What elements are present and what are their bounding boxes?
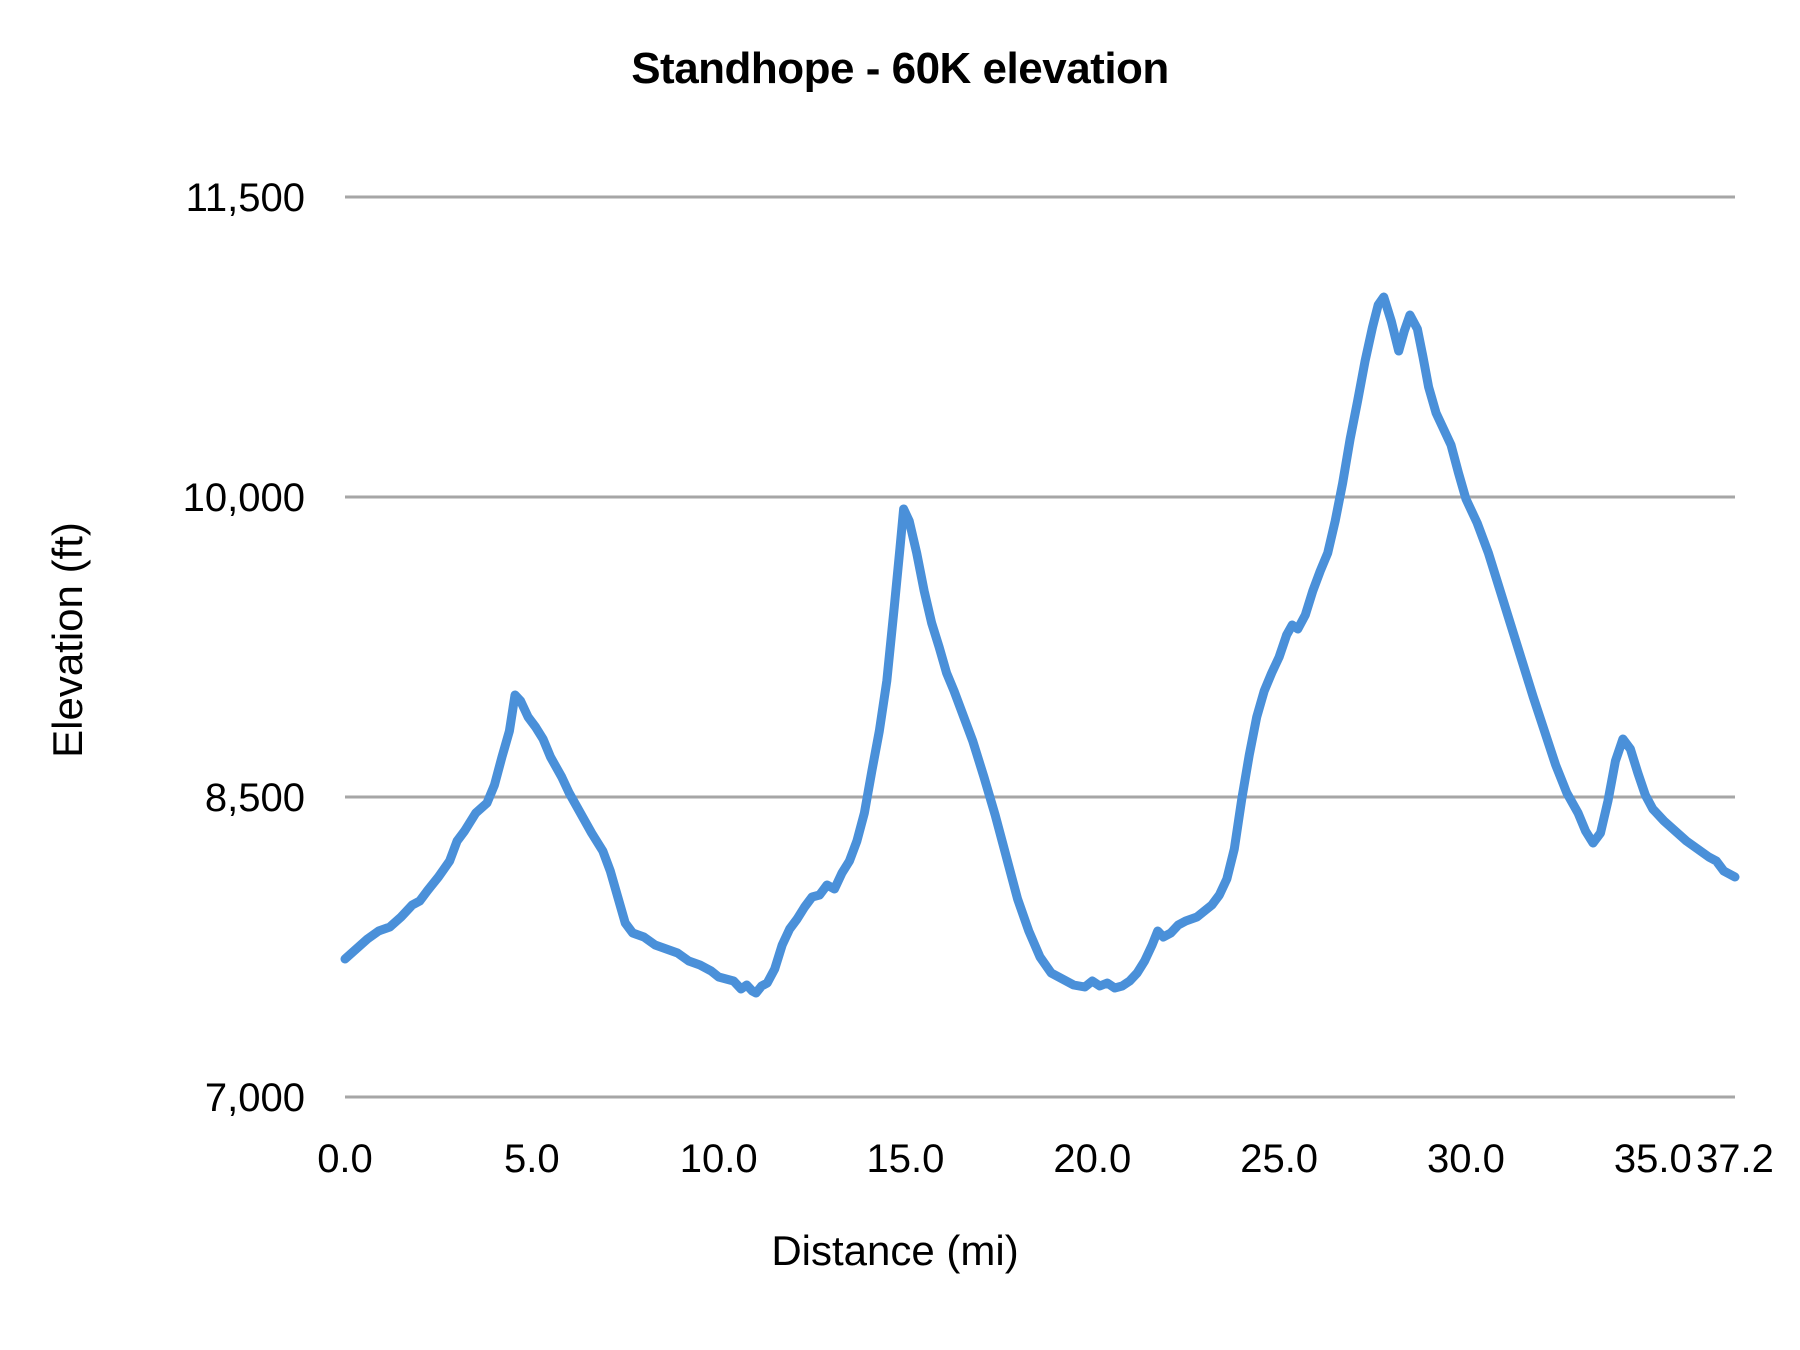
y-axis-tick-labels: 7,0008,50010,00011,500 bbox=[183, 176, 305, 1120]
y-tick-label: 7,000 bbox=[205, 1076, 305, 1120]
x-tick-label: 20.0 bbox=[1053, 1137, 1131, 1181]
x-tick-label: 5.0 bbox=[504, 1137, 560, 1181]
y-tick-label: 8,500 bbox=[205, 776, 305, 820]
y-axis-title: Elevation (ft) bbox=[44, 522, 91, 758]
data-series-group bbox=[345, 297, 1735, 993]
elevation-line-chart: 7,0008,50010,00011,500 0.05.010.015.020.… bbox=[0, 0, 1800, 1350]
x-tick-label: 10.0 bbox=[680, 1137, 758, 1181]
y-tick-label: 10,000 bbox=[183, 476, 305, 520]
x-tick-label: 15.0 bbox=[867, 1137, 945, 1181]
x-axis-tick-labels: 0.05.010.015.020.025.030.035.037.2 bbox=[317, 1137, 1774, 1181]
x-tick-label: 37.2 bbox=[1696, 1137, 1774, 1181]
x-tick-label: 25.0 bbox=[1240, 1137, 1318, 1181]
x-tick-label: 0.0 bbox=[317, 1137, 373, 1181]
series-line bbox=[345, 297, 1735, 993]
x-axis-title: Distance (mi) bbox=[771, 1227, 1018, 1274]
chart-page: Standhope - 60K elevation 7,0008,50010,0… bbox=[0, 0, 1800, 1350]
x-tick-label: 30.0 bbox=[1427, 1137, 1505, 1181]
y-tick-label: 11,500 bbox=[186, 176, 305, 220]
x-tick-label: 35.0 bbox=[1614, 1137, 1692, 1181]
